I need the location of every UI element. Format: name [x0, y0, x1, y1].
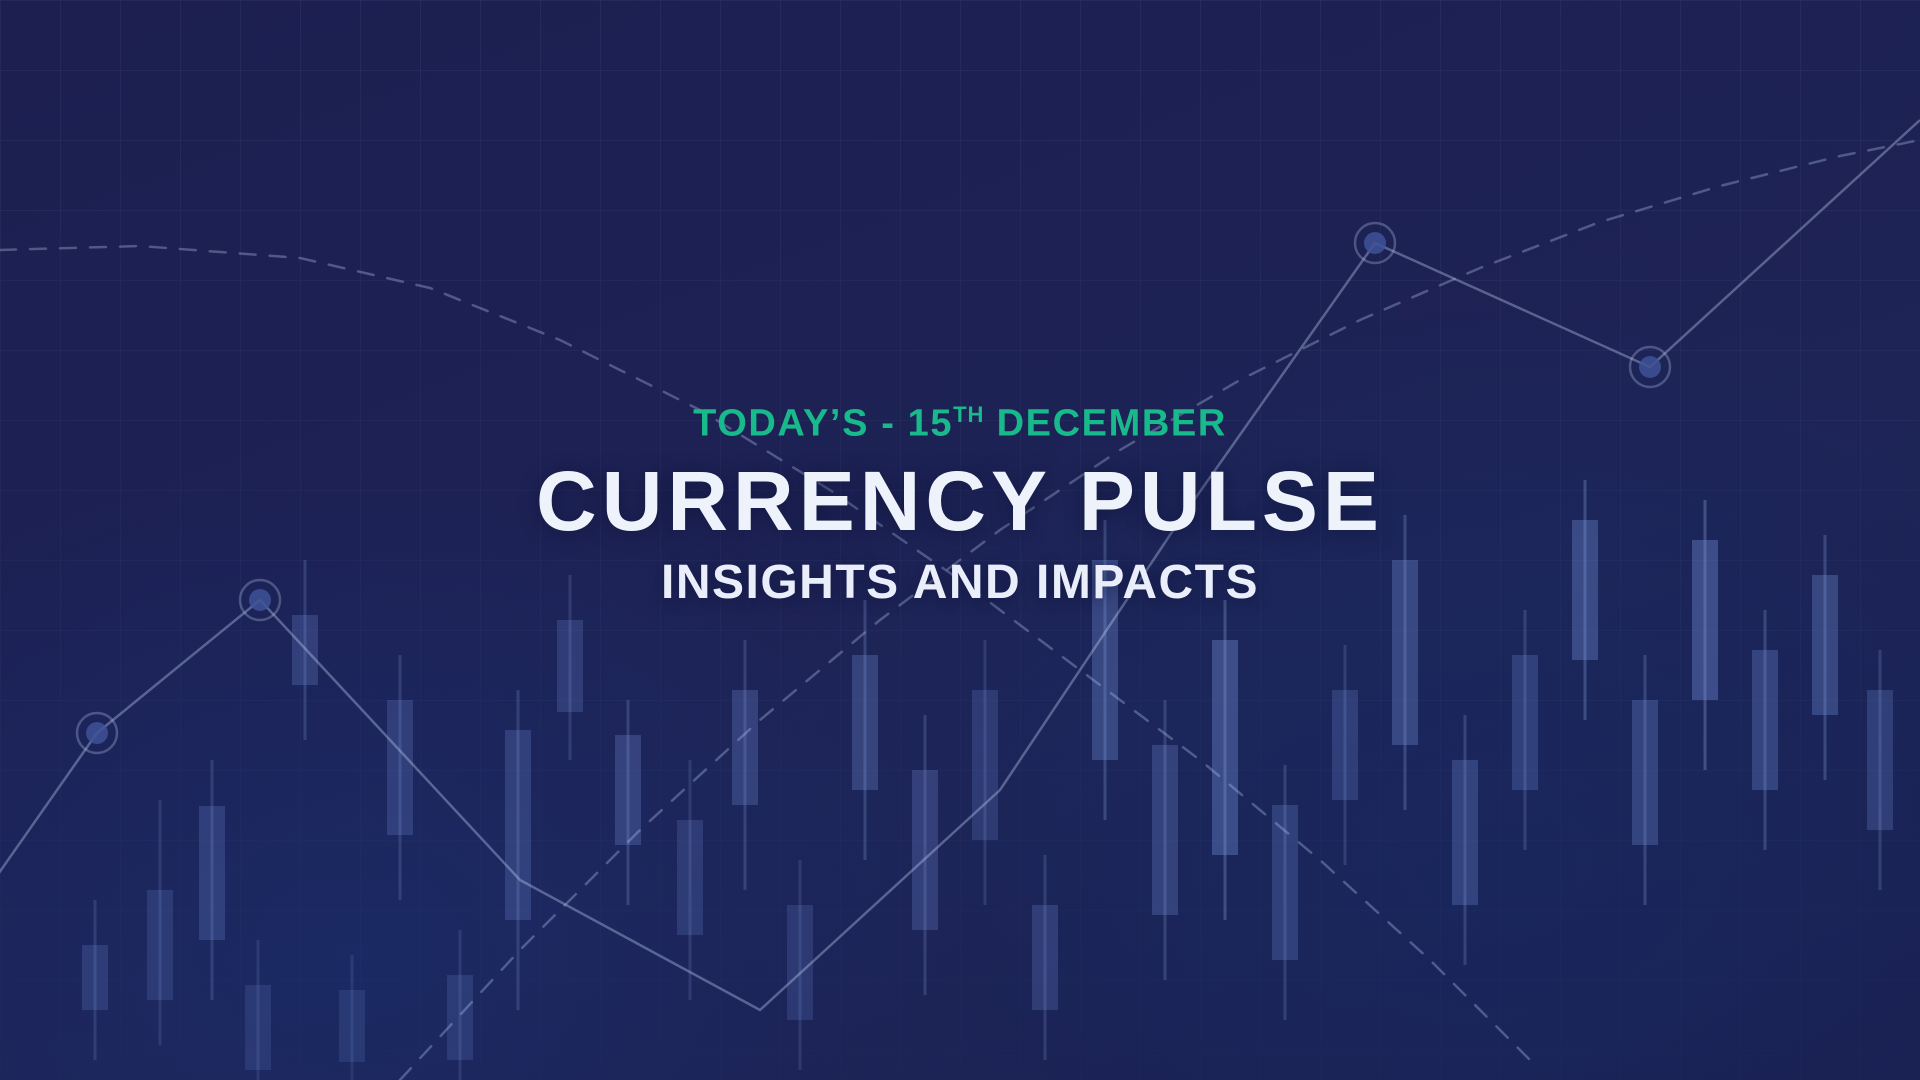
data-point-marker: [240, 580, 280, 620]
trend-line: [0, 120, 1920, 1010]
data-point-marker: [1630, 347, 1670, 387]
banner-canvas: TODAY’S - 15TH DECEMBER CURRENCY PULSE I…: [0, 0, 1920, 1080]
line-and-dashed-series: [0, 0, 1920, 1080]
dashed-trend-line: [0, 246, 1530, 1060]
data-point-marker: [1355, 223, 1395, 263]
data-point-marker: [77, 713, 117, 753]
